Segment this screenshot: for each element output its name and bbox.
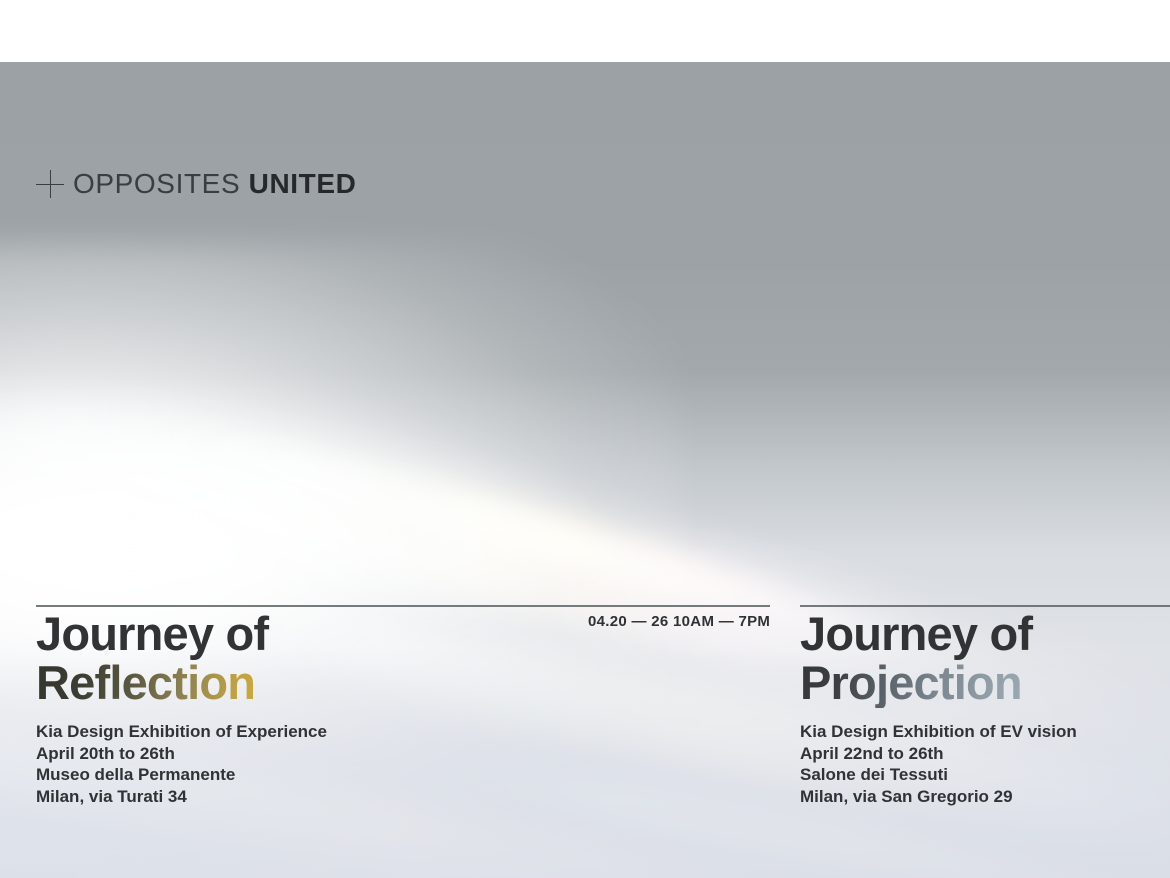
event-block-projection: Journey of Projection Kia Design Exhibit… <box>800 610 1077 808</box>
event-meta-line: Salone dei Tessuti <box>800 764 1077 786</box>
event-meta-reflection: Kia Design Exhibition of Experience Apri… <box>36 721 327 808</box>
event-meta-line: April 20th to 26th <box>36 743 327 765</box>
event-meta-line: Milan, via San Gregorio 29 <box>800 786 1077 808</box>
event-block-reflection: Journey of Reflection Kia Design Exhibit… <box>36 610 327 808</box>
event-title-line2: Projection <box>800 659 1077 708</box>
brand-word-opposites: OPPOSITES <box>73 168 240 199</box>
event-meta-projection: Kia Design Exhibition of EV vision April… <box>800 721 1077 808</box>
poster-artwork: OPPOSITES UNITED 04.20 — 26 10AM — 7PM J… <box>0 62 1170 878</box>
event-title-line1: Journey of <box>36 610 327 659</box>
event-meta-line: Kia Design Exhibition of EV vision <box>800 721 1077 743</box>
date-strip: 04.20 — 26 10AM — 7PM <box>588 613 770 630</box>
brand-word-united: UNITED <box>249 168 357 199</box>
event-title-line2: Reflection <box>36 659 327 708</box>
poster-screen: OPPOSITES UNITED 04.20 — 26 10AM — 7PM J… <box>0 0 1170 878</box>
event-meta-line: Milan, via Turati 34 <box>36 786 327 808</box>
brand-wordmark: OPPOSITES UNITED <box>73 170 356 198</box>
top-white-band <box>0 0 1170 62</box>
event-meta-line: Kia Design Exhibition of Experience <box>36 721 327 743</box>
brand-logo: OPPOSITES UNITED <box>36 170 356 198</box>
event-meta-line: Museo della Permanente <box>36 764 327 786</box>
brand-word-space <box>240 168 248 199</box>
event-title-line1: Journey of <box>800 610 1077 659</box>
event-meta-line: April 22nd to 26th <box>800 743 1077 765</box>
plus-icon <box>36 170 64 198</box>
